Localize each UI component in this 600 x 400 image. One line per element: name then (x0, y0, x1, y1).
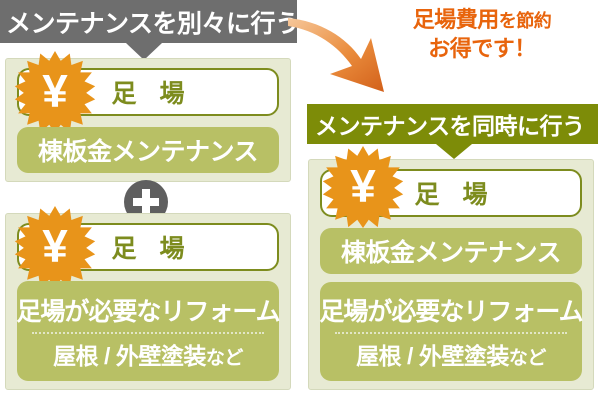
headline-line-2: お得です！ (366, 35, 598, 62)
pill-subitems: 屋根 / 外壁塗装など (53, 337, 243, 371)
pill-subitem-suffix: など (206, 348, 243, 369)
yen-burst-icon: ¥ (14, 206, 96, 288)
plus-icon-vertical-bar (142, 189, 150, 215)
pill-dotted-divider (32, 332, 264, 334)
right-banner-label: メンテナンスを同時に行う (315, 107, 585, 141)
pill-subitem-main: 屋根 / 外壁塗装 (53, 343, 206, 369)
right-card-scaffold-label: 足 場 (407, 175, 496, 211)
pill-label: 棟板金メンテナンス (38, 132, 258, 168)
pill-subitem-suffix: など (509, 348, 546, 369)
svg-text:¥: ¥ (42, 65, 68, 117)
left-card-1-scaffold-label: 足 場 (104, 74, 193, 110)
savings-headline: 足場費用を節約 お得です！ (366, 6, 598, 62)
right-banner: メンテナンスを同時に行う (307, 104, 598, 144)
left-card-1-item-maintenance: 棟板金メンテナンス (17, 127, 279, 173)
left-card-2-item-reform: 足場が必要なリフォーム 屋根 / 外壁塗装など (17, 281, 279, 381)
headline-main: 足場費用 (413, 7, 499, 32)
pill-subitems: 屋根 / 外壁塗装など (356, 337, 546, 371)
pill-label: 足場が必要なリフォーム (319, 292, 582, 328)
pill-label: 棟板金メンテナンス (341, 233, 561, 269)
left-banner: メンテナンスを別々に行う (0, 0, 297, 43)
infographic-canvas: メンテナンスを別々に行う 足 場 ¥ 棟板金メンテナンス 足 場 ¥ 足場が必要… (0, 0, 600, 400)
right-banner-notch (436, 144, 472, 159)
pill-label: 足場が必要なリフォーム (16, 292, 279, 328)
headline-suffix: を節約 (499, 11, 552, 31)
yen-burst-icon: ¥ (14, 51, 96, 133)
svg-text:¥: ¥ (350, 160, 376, 212)
pill-dotted-divider (335, 332, 567, 334)
right-card-item-reform: 足場が必要なリフォーム 屋根 / 外壁塗装など (320, 282, 582, 381)
pill-subitem-main: 屋根 / 外壁塗装 (356, 343, 509, 369)
svg-text:¥: ¥ (42, 220, 68, 272)
left-card-2-scaffold-label: 足 場 (104, 229, 193, 265)
yen-burst-icon: ¥ (322, 146, 404, 228)
right-card-item-maintenance: 棟板金メンテナンス (320, 228, 582, 274)
headline-line-1: 足場費用を節約 (366, 6, 598, 35)
left-banner-label: メンテナンスを別々に行う (6, 4, 300, 40)
